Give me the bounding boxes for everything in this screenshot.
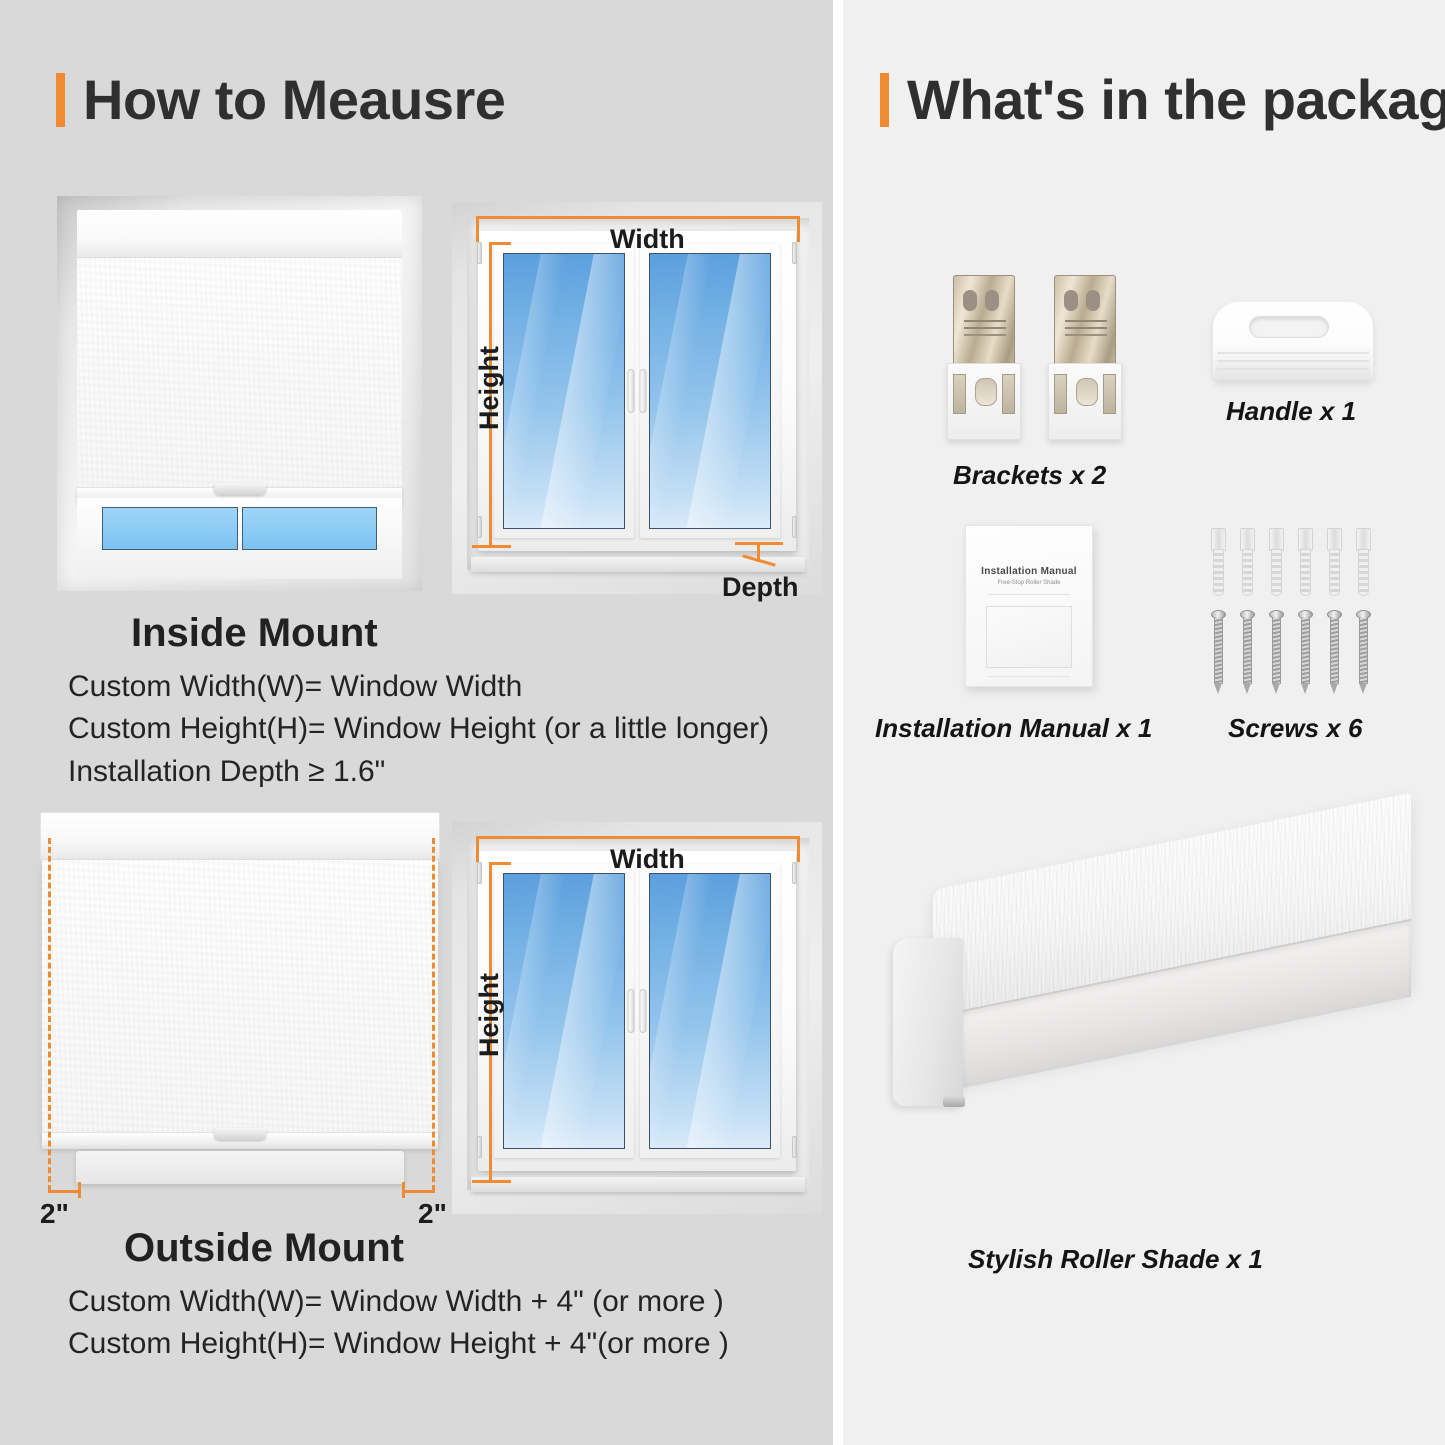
window-leaf-right bbox=[640, 244, 780, 538]
screw-shaft bbox=[1243, 618, 1252, 684]
manual-cover-figure bbox=[986, 606, 1072, 668]
hinge-icon bbox=[477, 1136, 482, 1158]
height-label: Height bbox=[474, 346, 505, 430]
roller-shade-end-cap bbox=[893, 938, 963, 1106]
width-measure-cap-right bbox=[797, 836, 800, 862]
screw-icon bbox=[1211, 610, 1226, 694]
screws-label: Screws x 6 bbox=[1228, 713, 1362, 744]
screw-icon bbox=[1327, 610, 1342, 694]
window-leaf-right bbox=[640, 864, 780, 1158]
roller-shade-pin bbox=[943, 1096, 965, 1107]
bracket-icon bbox=[1048, 275, 1122, 440]
hinge-icon bbox=[477, 862, 482, 884]
panel-divider bbox=[833, 0, 843, 1445]
handle-label: Handle x 1 bbox=[1226, 396, 1356, 427]
shade-bottom-rail bbox=[42, 1132, 438, 1149]
width-label: Width bbox=[610, 224, 685, 255]
window-handle-icon bbox=[628, 989, 635, 1033]
manual-rule bbox=[988, 594, 1070, 595]
height-label: Height bbox=[474, 973, 505, 1057]
width-measure-cap-right bbox=[797, 216, 800, 242]
window-glass-right bbox=[649, 873, 771, 1149]
anchor-head bbox=[1240, 528, 1255, 551]
screw-icon bbox=[1269, 610, 1284, 694]
wall-anchor-icon bbox=[1239, 528, 1256, 596]
width-measure-cap-left bbox=[476, 836, 479, 862]
manual-cover-subtitle: Free-Stop Roller Shade bbox=[966, 580, 1092, 586]
shade-pull-tab bbox=[214, 1128, 266, 1140]
window-glass-right bbox=[649, 253, 771, 529]
shade-headrail bbox=[40, 812, 440, 860]
bracket-slot bbox=[1103, 374, 1116, 414]
height-measure-cap-top bbox=[489, 862, 511, 865]
spec-line: Custom Width(W)= Window Width + 4" (or m… bbox=[68, 1284, 729, 1319]
anchor-body bbox=[1271, 549, 1282, 596]
bracket-slot bbox=[953, 374, 966, 414]
package-title: What's in the package bbox=[907, 72, 1445, 128]
outside-mount-measure-diagram: Width Height bbox=[452, 822, 822, 1214]
wall-anchor-icon bbox=[1297, 528, 1314, 596]
window-sash-panes bbox=[100, 507, 379, 549]
hinge-icon bbox=[792, 1136, 797, 1158]
overhang-dash-left bbox=[48, 838, 51, 1191]
screw-shaft bbox=[1272, 618, 1281, 684]
anchor-body bbox=[1358, 549, 1369, 596]
overhang-cap-right bbox=[402, 1182, 405, 1198]
hinge-icon bbox=[792, 516, 797, 538]
handle-groove bbox=[1217, 368, 1369, 370]
depth-label: Depth bbox=[722, 572, 799, 603]
package-heading: What's in the package bbox=[880, 72, 1445, 128]
window-leaf-left bbox=[494, 864, 634, 1158]
screw-tip bbox=[1359, 683, 1367, 694]
anchor-head bbox=[1327, 528, 1342, 551]
hinge-icon bbox=[477, 242, 482, 264]
handle-icon bbox=[1213, 302, 1373, 380]
overhang-arrow-left bbox=[48, 1190, 80, 1193]
spec-line: Custom Height(H)= Window Height (or a li… bbox=[68, 711, 769, 746]
package-contents-panel: What's in the package Brackets x 2 bbox=[843, 0, 1445, 1445]
overhang-label-left: 2" bbox=[40, 1198, 69, 1230]
anchor-head bbox=[1356, 528, 1371, 551]
hinge-icon bbox=[792, 862, 797, 884]
wall-anchor-icon bbox=[1268, 528, 1285, 596]
height-measure-cap-bottom bbox=[472, 1180, 511, 1183]
roller-shade-icon bbox=[881, 890, 1411, 1190]
bracket-slot bbox=[1002, 374, 1015, 414]
window-handle-icon bbox=[640, 989, 647, 1033]
height-measure-cap-bottom bbox=[472, 545, 511, 548]
inside-mount-specs: Custom Width(W)= Window Width Custom Hei… bbox=[68, 669, 769, 796]
manual-cover-title: Installation Manual bbox=[966, 566, 1092, 577]
manual-rule bbox=[988, 676, 1070, 677]
glass-pane bbox=[102, 507, 238, 549]
window-sill bbox=[471, 1177, 806, 1192]
width-measure-cap-left bbox=[476, 216, 479, 242]
screw-shaft bbox=[1359, 618, 1368, 684]
diagram-window-frame bbox=[478, 851, 796, 1171]
diagram-window-frame bbox=[478, 231, 796, 551]
outside-mount-specs: Custom Width(W)= Window Width + 4" (or m… bbox=[68, 1284, 729, 1369]
how-to-measure-panel: How to Meausre bbox=[0, 0, 833, 1445]
bracket-plastic-base bbox=[1048, 363, 1122, 440]
hinge-icon bbox=[477, 516, 482, 538]
anchor-head bbox=[1298, 528, 1313, 551]
overhang-arrow-right bbox=[402, 1190, 435, 1193]
window-handles bbox=[628, 369, 647, 413]
window-opening bbox=[77, 210, 402, 579]
spec-line: Custom Width(W)= Window Width bbox=[68, 669, 769, 704]
screw-shaft bbox=[1214, 618, 1223, 684]
shade-fabric bbox=[77, 258, 402, 491]
screw-tip bbox=[1272, 683, 1280, 694]
brackets-image bbox=[947, 275, 1132, 445]
overhang-cap-left bbox=[78, 1182, 81, 1198]
anchor-head bbox=[1269, 528, 1284, 551]
accent-bar-icon bbox=[880, 73, 889, 127]
inside-mount-measure-diagram: Width Height Depth bbox=[452, 202, 822, 594]
spec-line: Custom Height(H)= Window Height + 4"(or … bbox=[68, 1326, 729, 1361]
screw-tip bbox=[1301, 683, 1309, 694]
glass-pane bbox=[242, 507, 378, 549]
screw-tip bbox=[1243, 683, 1251, 694]
screw-tip bbox=[1214, 683, 1222, 694]
bracket-slot bbox=[1054, 374, 1067, 414]
inside-mount-title: Inside Mount bbox=[131, 611, 378, 656]
handle-grip-slot bbox=[1249, 316, 1329, 338]
shade-headrail bbox=[77, 210, 402, 258]
screw-icon bbox=[1356, 610, 1371, 694]
screw-shaft bbox=[1301, 618, 1310, 684]
handle-groove bbox=[1217, 360, 1369, 362]
bracket-plastic-base bbox=[947, 363, 1021, 440]
anchor-body bbox=[1213, 549, 1224, 596]
installation-manual-image: Installation Manual Free-Stop Roller Sha… bbox=[965, 525, 1100, 695]
wall-anchor-icon bbox=[1326, 528, 1343, 596]
handle-image bbox=[1213, 302, 1383, 392]
window-frame-behind bbox=[76, 1151, 404, 1184]
infographic-page: How to Meausre bbox=[0, 0, 1445, 1445]
anchor-body bbox=[1300, 549, 1311, 596]
width-measure-line bbox=[476, 216, 800, 219]
height-measure-cap-top bbox=[489, 242, 511, 245]
installation-manual-label: Installation Manual x 1 bbox=[875, 713, 1152, 744]
window-glass-left bbox=[503, 253, 625, 529]
screw-icon bbox=[1298, 610, 1313, 694]
screw-tip bbox=[1330, 683, 1338, 694]
anchor-body bbox=[1242, 549, 1253, 596]
overhang-label-right: 2" bbox=[418, 1198, 447, 1230]
window-handles bbox=[628, 989, 647, 1033]
how-to-measure-title: How to Meausre bbox=[83, 72, 505, 128]
window-leaf-left bbox=[494, 244, 634, 538]
screw-shaft bbox=[1330, 618, 1339, 684]
window-glass-left bbox=[503, 873, 625, 1149]
shade-fabric bbox=[42, 860, 438, 1135]
hinge-icon bbox=[792, 242, 797, 264]
roller-shade-label: Stylish Roller Shade x 1 bbox=[968, 1244, 1263, 1275]
outside-mount-shade-illustration bbox=[40, 812, 440, 1184]
wall-anchor-icon bbox=[1210, 528, 1227, 596]
window-handle-icon bbox=[640, 369, 647, 413]
how-to-measure-heading: How to Meausre bbox=[56, 72, 505, 128]
width-measure-line bbox=[476, 836, 800, 839]
overhang-dash-right bbox=[432, 838, 435, 1191]
wall-anchor-icon bbox=[1355, 528, 1372, 596]
accent-bar-icon bbox=[56, 73, 65, 127]
manual-cover-icon: Installation Manual Free-Stop Roller Sha… bbox=[965, 525, 1093, 687]
screw-icon bbox=[1240, 610, 1255, 694]
window-handle-icon bbox=[628, 369, 635, 413]
anchor-body bbox=[1329, 549, 1340, 596]
spec-line: Installation Depth ≥ 1.6" bbox=[68, 754, 769, 789]
outside-mount-title: Outside Mount bbox=[124, 1226, 404, 1271]
handle-groove bbox=[1217, 352, 1369, 354]
brackets-label: Brackets x 2 bbox=[953, 460, 1106, 491]
anchor-head bbox=[1211, 528, 1226, 551]
bracket-icon bbox=[947, 275, 1021, 440]
shade-pull-tab bbox=[214, 483, 266, 495]
roller-shade-image bbox=[843, 880, 1445, 1210]
inside-mount-shade-illustration bbox=[57, 196, 422, 591]
width-label: Width bbox=[610, 844, 685, 875]
screws-image bbox=[1208, 528, 1388, 698]
